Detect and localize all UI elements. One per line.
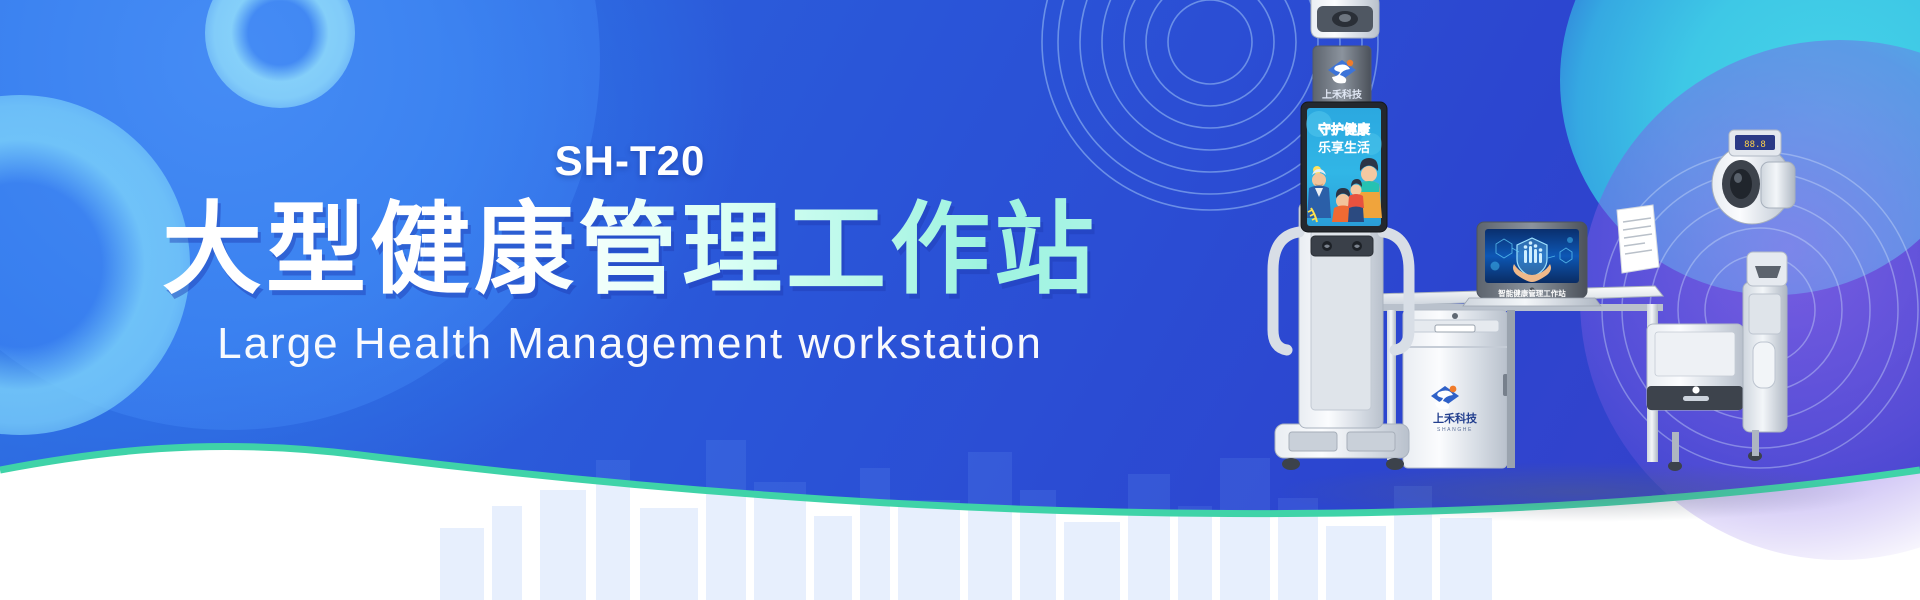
analyzer-unit: 88.8 — [1617, 130, 1795, 471]
svg-text:88.8: 88.8 — [1744, 140, 1766, 150]
banner-text-block: SH-T20 大型健康管理工作站 Large Health Management… — [0, 140, 1260, 366]
page-subtitle: Large Health Management workstation — [0, 322, 1260, 366]
cabinet-brand-en: SHANGHE — [1437, 427, 1473, 433]
kiosk-screen-line1: 守护健康 — [1318, 122, 1371, 138]
cabinet-brand-cn: 上禾科技 — [1433, 411, 1478, 425]
kiosk-screen-line2: 乐享生活 — [1318, 140, 1370, 156]
product-banner: SH-T20 大型健康管理工作站 Large Health Management… — [0, 0, 1920, 600]
kiosk-advert-screen: 守护健康 乐享生活 — [1301, 102, 1387, 232]
receipt-slip — [1617, 205, 1659, 273]
model-code: SH-T20 — [0, 140, 1260, 182]
laptop-caption: 智能健康管理工作站 — [1498, 288, 1566, 298]
laptop-unit: 智能健康管理工作站 — [1463, 222, 1601, 306]
page-title: 大型健康管理工作站 — [0, 196, 1260, 304]
kiosk-brand-cn: 上禾科技 — [1322, 88, 1363, 101]
product-image-group: 上禾科技 SHANGHE — [1255, 0, 1895, 594]
